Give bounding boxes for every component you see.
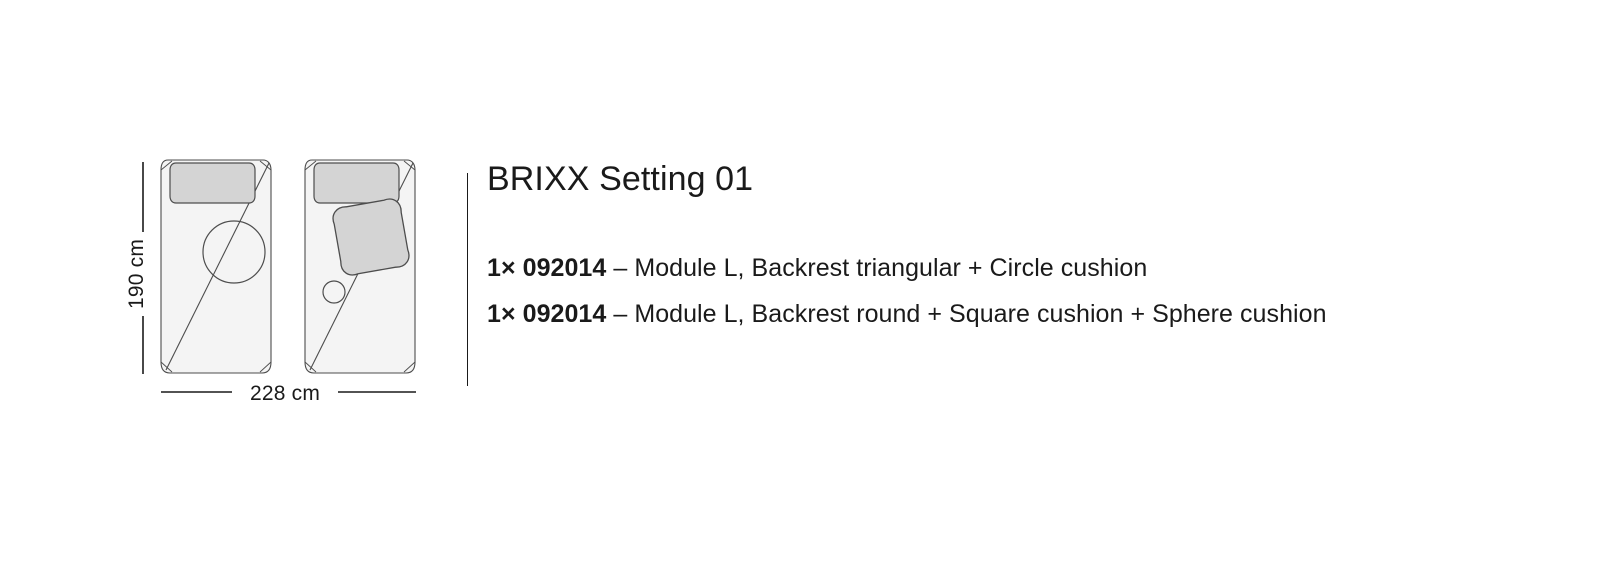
info-panel: BRIXX Setting 01 1× 092014 – Module L, B…: [487, 160, 1547, 337]
product-setting-sheet: 190 cm 228 cm: [0, 0, 1600, 575]
list-item: 1× 092014 – Module L, Backrest round + S…: [487, 292, 1547, 338]
page-title: BRIXX Setting 01: [487, 160, 1547, 199]
module-code: 092014: [523, 300, 607, 328]
module-left-backrest-bar: [170, 163, 255, 203]
module-list: 1× 092014 – Module L, Backrest triangula…: [487, 246, 1547, 337]
list-item: 1× 092014 – Module L, Backrest triangula…: [487, 246, 1547, 292]
module-quantity: 1×: [487, 254, 516, 282]
module-right-backrest-bar: [314, 163, 399, 203]
module-separator: –: [613, 300, 627, 328]
width-dimension: 228 cm: [161, 382, 416, 405]
height-dimension: 190 cm: [125, 162, 148, 374]
module-left: [161, 160, 271, 373]
module-code: 092014: [523, 254, 607, 282]
module-description: Module L, Backrest triangular + Circle c…: [634, 254, 1147, 282]
module-right: [305, 160, 415, 373]
module-right-square-cushion: [331, 197, 411, 277]
height-dimension-label: 190 cm: [125, 239, 148, 309]
module-quantity: 1×: [487, 300, 516, 328]
vertical-divider: [467, 173, 468, 386]
module-separator: –: [613, 254, 627, 282]
width-dimension-label: 228 cm: [250, 382, 320, 405]
drawing-panel: 190 cm 228 cm: [0, 0, 460, 575]
floorplan-drawing: 190 cm 228 cm: [0, 0, 460, 575]
module-description: Module L, Backrest round + Square cushio…: [634, 300, 1326, 328]
